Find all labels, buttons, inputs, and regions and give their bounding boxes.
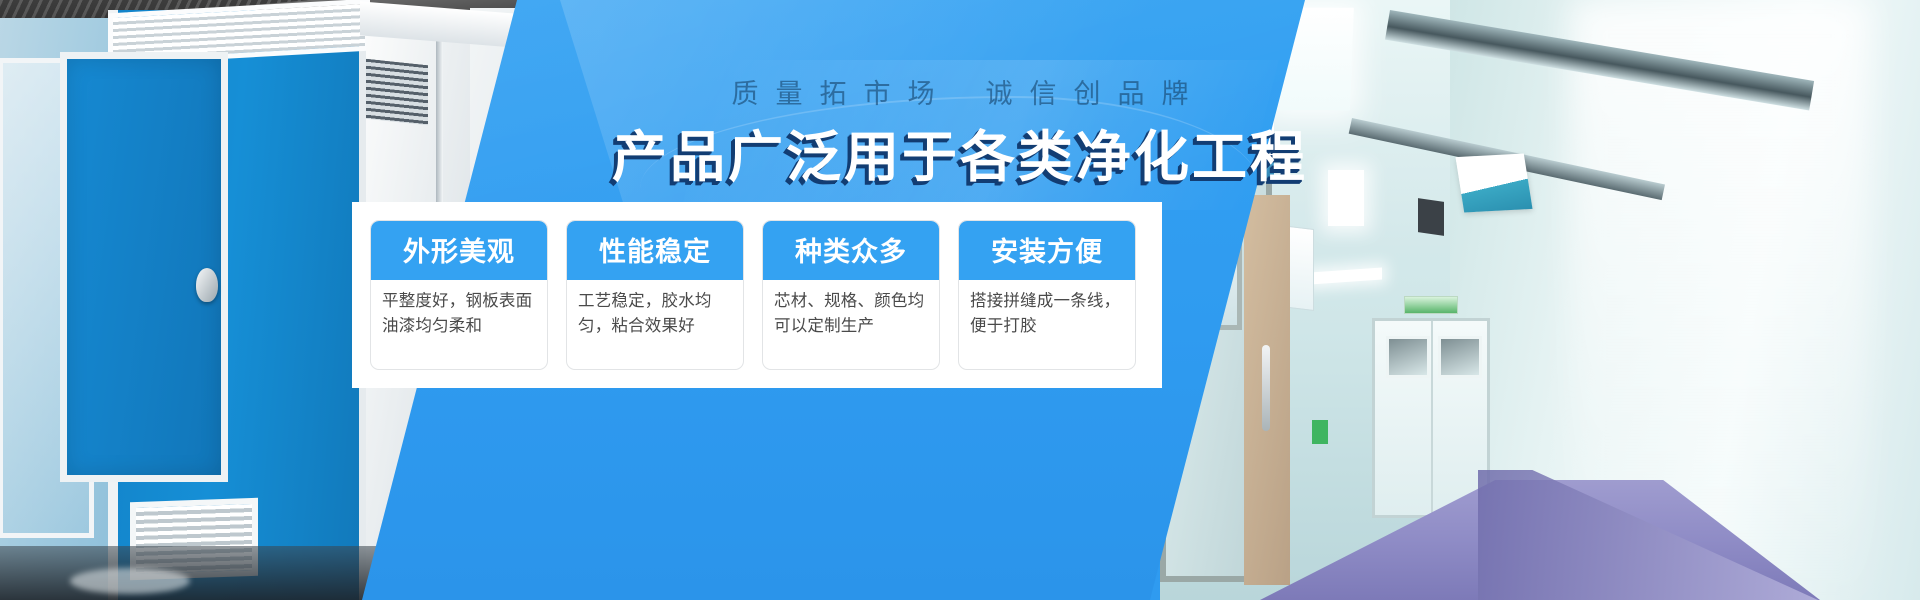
banner-tagline: 质量拓市场诚信创品牌 (0, 72, 1920, 111)
ceiling-lamp-icon (1310, 267, 1382, 284)
feature-card-4-title: 安装方便 (959, 221, 1135, 280)
banner-headline: 产品广泛用于各类净化工程 (0, 112, 1920, 192)
wall-speaker-icon (1418, 198, 1444, 236)
feature-card-4[interactable]: 安装方便 搭接拼缝成一条线，便于打胶 (958, 220, 1136, 370)
door-handle-icon (196, 268, 218, 302)
feature-card-2[interactable]: 性能稳定 工艺稳定，胶水均匀，粘合效果好 (566, 220, 744, 370)
feature-card-1[interactable]: 外形美观 平整度好，钢板表面油漆均匀柔和 (370, 220, 548, 370)
feature-card-1-body: 平整度好，钢板表面油漆均匀柔和 (371, 280, 547, 339)
feature-card-3-body: 芯材、规格、颜色均可以定制生产 (763, 280, 939, 339)
tagline-left-text: 质量拓市场 (732, 79, 952, 110)
feature-card-2-body: 工艺稳定，胶水均匀，粘合效果好 (567, 280, 743, 339)
emergency-light-icon (1312, 420, 1328, 444)
feature-card-4-body: 搭接拼缝成一条线，便于打胶 (959, 280, 1135, 339)
corridor-door-wood (1244, 195, 1290, 585)
feature-cards-panel: 外形美观 平整度好，钢板表面油漆均匀柔和 性能稳定 工艺稳定，胶水均匀，粘合效果… (352, 202, 1162, 388)
feature-card-3-title: 种类众多 (763, 221, 939, 280)
exit-sign-icon (1404, 296, 1458, 314)
tagline-right-text: 诚信创品牌 (986, 79, 1206, 110)
feature-card-3[interactable]: 种类众多 芯材、规格、颜色均可以定制生产 (762, 220, 940, 370)
promo-banner: 质量拓市场诚信创品牌 产品广泛用于各类净化工程 外形美观 平整度好，钢板表面油漆… (0, 0, 1920, 600)
feature-card-1-title: 外形美观 (371, 221, 547, 280)
door-window-far-right (1438, 336, 1482, 378)
door-window-far-left (1386, 336, 1430, 378)
feature-card-2-title: 性能稳定 (567, 221, 743, 280)
